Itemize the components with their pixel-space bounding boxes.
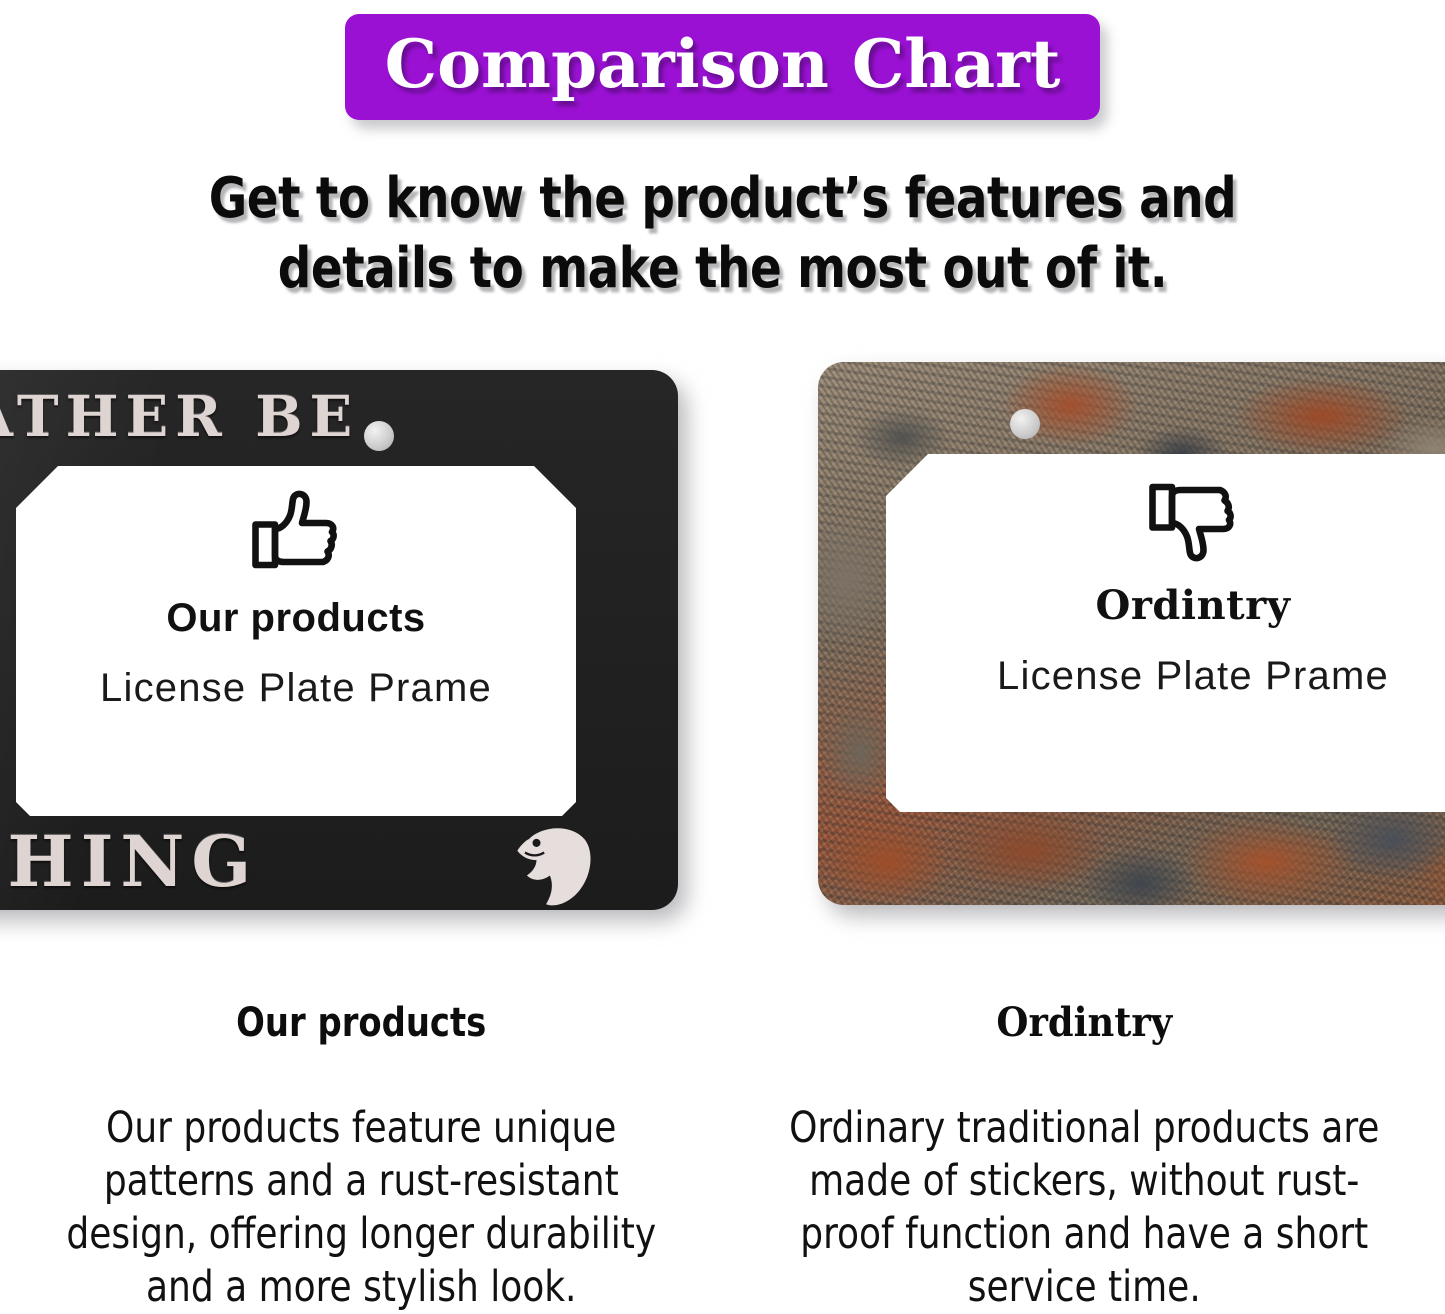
frame-plate-top-text: RATHER BE [0, 384, 359, 450]
comparison-columns: Our products Our products feature unique… [0, 990, 1445, 1314]
product-frames-row: RATHER BE SHING Our products [0, 362, 1445, 922]
theirs-label-main: Ordintry [1096, 582, 1291, 630]
our-products-heading: Our products [54, 998, 669, 1048]
plate-window-ours: Our products License Plate Prame [16, 466, 576, 816]
fish-icon [500, 818, 596, 910]
column-our-products: Our products Our products feature unique… [0, 990, 723, 1314]
thumbs-up-icon [248, 484, 344, 580]
thumbs-down-icon [1145, 472, 1241, 568]
frame-plate-bottom-text: SHING [0, 822, 258, 902]
page-title: Comparison Chart [385, 24, 1061, 104]
theirs-label-sub: License Plate Prame [997, 652, 1389, 700]
ours-label-sub: License Plate Prame [100, 664, 492, 712]
mounting-hole [1010, 409, 1040, 439]
ours-label-main: Our products [166, 594, 425, 642]
ordinary-heading: Ordintry [783, 998, 1385, 1048]
subtitle-line-1: Get to know the product’s features and [51, 164, 1395, 234]
subtitle-line-2: details to make the most out of it. [51, 234, 1395, 304]
our-product-frame-image: RATHER BE SHING Our products [0, 370, 678, 910]
ordinary-description: Ordinary traditional products are made o… [779, 1102, 1388, 1314]
mounting-hole [364, 421, 394, 451]
comparison-chart-page: Comparison Chart Get to know the product… [0, 0, 1445, 1314]
ordinary-product-frame-image: Ordintry License Plate Prame [818, 362, 1445, 905]
plate-window-theirs: Ordintry License Plate Prame [886, 454, 1445, 812]
title-banner: Comparison Chart [345, 14, 1101, 120]
banner-container: Comparison Chart [0, 14, 1445, 120]
column-ordinary: Ordintry Ordinary traditional products a… [723, 990, 1445, 1314]
page-subtitle: Get to know the product’s features and d… [51, 164, 1395, 304]
our-products-description: Our products feature unique patterns and… [57, 1102, 666, 1314]
